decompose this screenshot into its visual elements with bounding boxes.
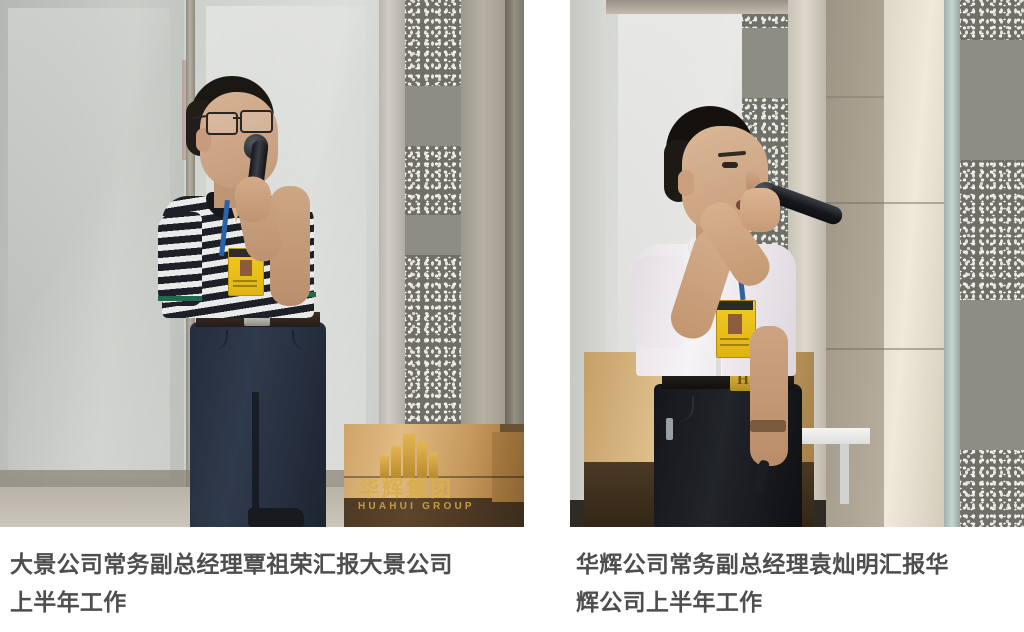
- id-badge-line-1: [720, 338, 749, 340]
- decorative-panel-2-highlight-2: [960, 300, 1024, 450]
- id-badge-photo: [240, 260, 252, 276]
- id-badge-line-2: [720, 344, 749, 346]
- ear: [678, 170, 694, 196]
- photo-panel-right: H: [570, 0, 1024, 527]
- podium-logo-english: HUAHUI GROUP: [358, 500, 488, 514]
- caption-left-line-1: 大景公司常务副总经理覃祖荣汇报大景公司: [10, 545, 453, 583]
- caption-right-line-1: 华辉公司常务副总经理袁灿明汇报华: [576, 545, 949, 583]
- eyeglasses-lens-right: [240, 110, 273, 133]
- id-badge-header: [717, 301, 753, 310]
- shirt-sleeve-left: [158, 212, 202, 306]
- decorative-panel-1-highlight: [742, 28, 790, 98]
- speaker-photo-right[interactable]: H: [570, 0, 1024, 527]
- id-badge-line-2: [233, 285, 257, 287]
- podium-wood-side: [492, 432, 524, 502]
- caption-right: 华辉公司常务副总经理袁灿明汇报华 辉公司上半年工作: [576, 545, 949, 621]
- wristwatch: [750, 420, 786, 432]
- shoe: [248, 508, 304, 527]
- decorative-panel-2-highlight-1: [960, 40, 1024, 160]
- glass-reflection-1: [8, 8, 170, 478]
- decorative-panel-highlight-1: [405, 86, 461, 146]
- photo-panel-left: 华辉集团 HUAHUI GROUP 大景公司常务副总经理覃祖荣汇报大景公司 上半…: [0, 0, 524, 527]
- photo-gallery-page: 华辉集团 HUAHUI GROUP 大景公司常务副总经理覃祖荣汇报大景公司 上半…: [0, 0, 1024, 632]
- eye: [722, 162, 738, 168]
- podium-logo-chinese: 华辉集团: [358, 478, 488, 500]
- caption-left-line-2: 上半年工作: [10, 583, 453, 621]
- huahui-tower-logo-icon: [378, 434, 442, 478]
- arm-lowered: [750, 326, 788, 466]
- id-badge-photo: [728, 314, 742, 334]
- marble-pillar-lit-face: [884, 0, 944, 527]
- caption-left: 大景公司常务副总经理覃祖荣汇报大景公司 上半年工作: [10, 545, 453, 621]
- id-badge-line-1: [233, 280, 257, 282]
- decorative-panel-highlight-2: [405, 215, 461, 255]
- caption-right-line-2: 辉公司上半年工作: [576, 583, 949, 621]
- eyeglasses-lens-left: [206, 112, 238, 135]
- speaker-photo-left[interactable]: 华辉集团 HUAHUI GROUP: [0, 0, 524, 527]
- hand-holding-microphone: [236, 178, 270, 222]
- pillar-tile-seam-3: [826, 348, 944, 350]
- sleeve-trim-left: [158, 296, 202, 301]
- trouser-inseam: [252, 392, 259, 527]
- marble-pillar-shadow-face: [826, 0, 884, 527]
- table-leg-back: [840, 444, 849, 504]
- hand-holding-microphone: [740, 188, 780, 232]
- eyeglasses-bridge: [233, 117, 242, 119]
- pillar-tile-seam-2: [826, 202, 944, 204]
- glass-strip: [944, 0, 960, 527]
- pillar-tile-seam-1: [826, 96, 884, 98]
- pocket-clip: [666, 418, 673, 440]
